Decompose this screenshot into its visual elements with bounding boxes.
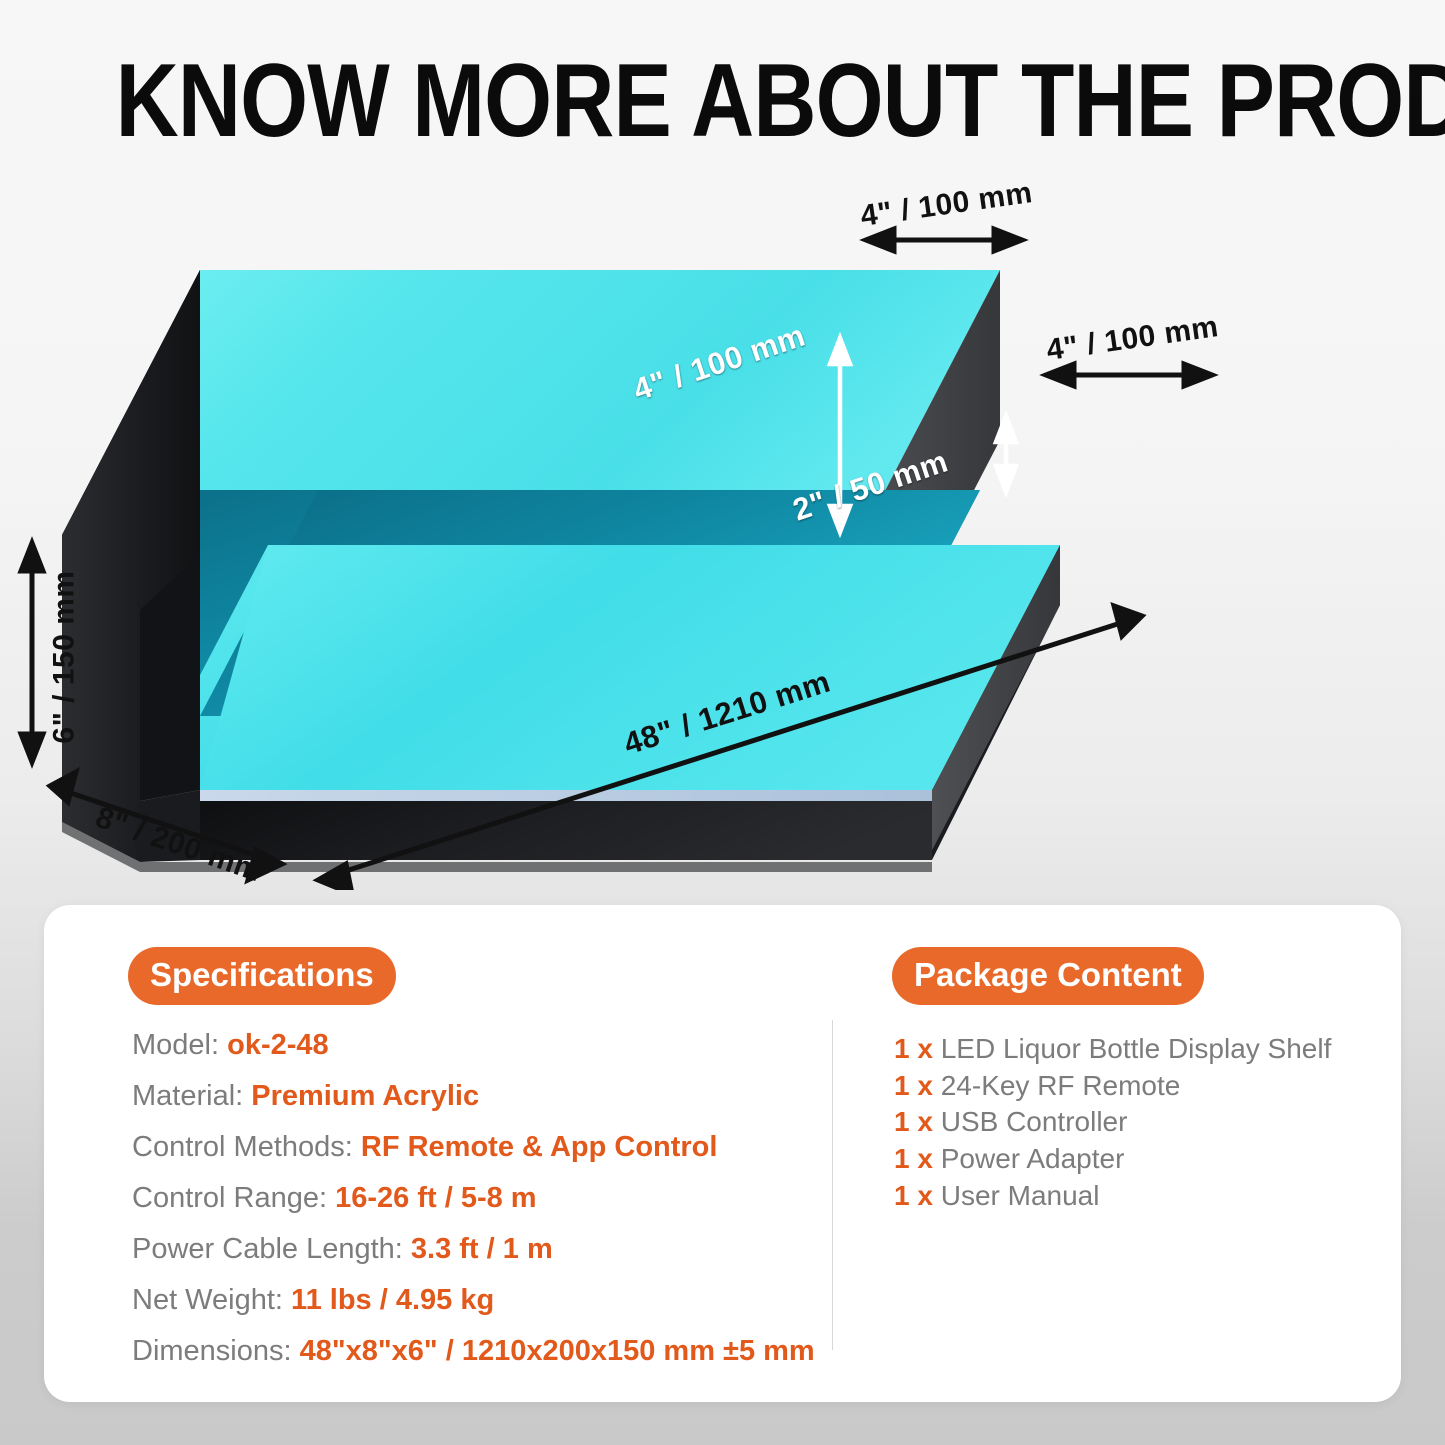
list-item: 1 x LED Liquor Bottle Display Shelf: [894, 1031, 1382, 1068]
list-item: 1 x Power Adapter: [894, 1141, 1382, 1178]
list-item: 1 x 24-Key RF Remote: [894, 1068, 1382, 1105]
front-lip-face-upper: [200, 801, 932, 860]
spec-row: Dimensions: 48"x8"x6" / 1210x200x150 mm …: [132, 1337, 820, 1366]
spec-value: 11 lbs / 4.95 kg: [291, 1284, 494, 1316]
spec-label: Model:: [132, 1029, 219, 1061]
spec-label: Dimensions:: [132, 1335, 292, 1367]
shelf-3d-illustration: [0, 150, 1445, 890]
spec-label: Power Cable Length:: [132, 1233, 403, 1265]
spec-row: Power Cable Length: 3.3 ft / 1 m: [132, 1235, 820, 1264]
dim-label-total-height: 6" / 150 mm: [48, 570, 82, 743]
item-qty: 1 x: [894, 1143, 933, 1174]
item-name: USB Controller: [941, 1106, 1128, 1137]
specifications-list: Model: ok-2-48 Material: Premium Acrylic…: [90, 1031, 820, 1366]
item-name: Power Adapter: [941, 1143, 1125, 1174]
item-name: LED Liquor Bottle Display Shelf: [941, 1033, 1332, 1064]
spec-row: Control Range: 16-26 ft / 5-8 m: [132, 1184, 820, 1213]
product-infographic-page: KNOW MORE ABOUT THE PRODUCT: [0, 0, 1445, 1445]
package-content-list: 1 x LED Liquor Bottle Display Shelf 1 x …: [882, 1031, 1382, 1214]
spec-row: Net Weight: 11 lbs / 4.95 kg: [132, 1286, 820, 1315]
spec-value: 16-26 ft / 5-8 m: [335, 1182, 536, 1214]
item-name: User Manual: [941, 1180, 1100, 1211]
page-title: KNOW MORE ABOUT THE PRODUCT: [116, 42, 1330, 161]
package-content-section: Package Content 1 x LED Liquor Bottle Di…: [882, 947, 1382, 1214]
spec-label: Control Range:: [132, 1182, 327, 1214]
spec-row: Material: Premium Acrylic: [132, 1082, 820, 1111]
spec-value: 48"x8"x6" / 1210x200x150 mm ±5 mm: [300, 1335, 815, 1367]
specifications-section: Specifications Model: ok-2-48 Material: …: [90, 947, 820, 1388]
spec-label: Net Weight:: [132, 1284, 283, 1316]
arrow-top-depth: [866, 229, 1022, 251]
spec-value: ok-2-48: [227, 1029, 329, 1061]
specifications-badge: Specifications: [128, 947, 396, 1005]
product-dimension-diagram: 4" / 100 mm 4" / 100 mm 4" / 100 mm 2" /…: [0, 150, 1445, 890]
info-card: Specifications Model: ok-2-48 Material: …: [44, 905, 1401, 1402]
item-qty: 1 x: [894, 1070, 933, 1101]
item-qty: 1 x: [894, 1106, 933, 1137]
item-qty: 1 x: [894, 1033, 933, 1064]
spec-row: Control Methods: RF Remote & App Control: [132, 1133, 820, 1162]
column-divider: [832, 1020, 833, 1350]
spec-label: Control Methods:: [132, 1131, 353, 1163]
spec-row: Model: ok-2-48: [132, 1031, 820, 1060]
arrow-total-height: [21, 543, 43, 762]
spec-value: RF Remote & App Control: [361, 1131, 718, 1163]
list-item: 1 x USB Controller: [894, 1104, 1382, 1141]
spec-value: 3.3 ft / 1 m: [411, 1233, 553, 1265]
arrow-front-depth: [1046, 364, 1212, 386]
package-content-badge: Package Content: [892, 947, 1204, 1005]
item-qty: 1 x: [894, 1180, 933, 1211]
spec-value: Premium Acrylic: [251, 1080, 479, 1112]
item-name: 24-Key RF Remote: [941, 1070, 1181, 1101]
spec-label: Material:: [132, 1080, 243, 1112]
list-item: 1 x User Manual: [894, 1178, 1382, 1215]
